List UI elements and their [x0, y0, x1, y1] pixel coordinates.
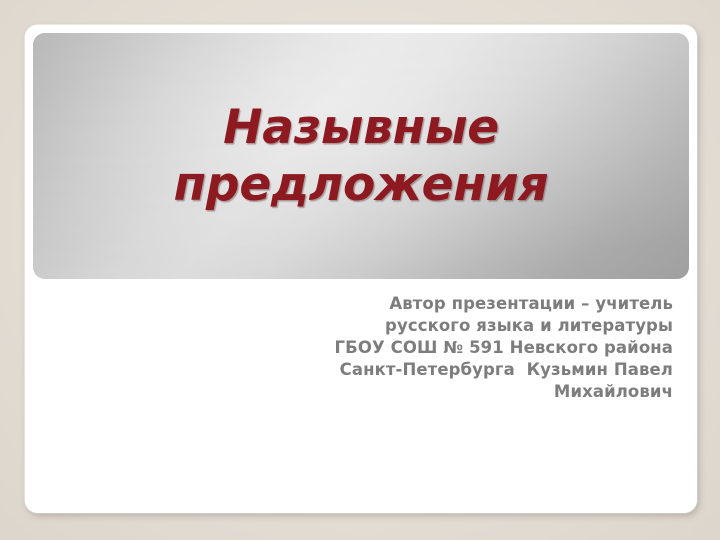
subtitle-line-2: русского языка и литературы — [33, 315, 673, 337]
slide-stage: Назывные предложения Автор презентации –… — [0, 0, 720, 540]
subtitle-line-5: Михайлович — [33, 381, 673, 403]
slide-title: Назывные предложения — [33, 33, 689, 279]
subtitle-line-1: Автор презентации – учитель — [33, 293, 673, 315]
subtitle-line-3: ГБОУ СОШ № 591 Невского района — [33, 337, 673, 359]
slide-title-line-1: Назывные — [223, 99, 499, 156]
subtitle-line-4: Санкт-Петербурга Кузьмин Павел — [33, 359, 673, 381]
slide-title-line-2: предложения — [174, 156, 549, 213]
title-banner: Назывные предложения — [33, 33, 689, 279]
slide-subtitle: Автор презентации – учитель русского язы… — [33, 293, 681, 404]
slide-card: Назывные предложения Автор презентации –… — [25, 25, 697, 513]
